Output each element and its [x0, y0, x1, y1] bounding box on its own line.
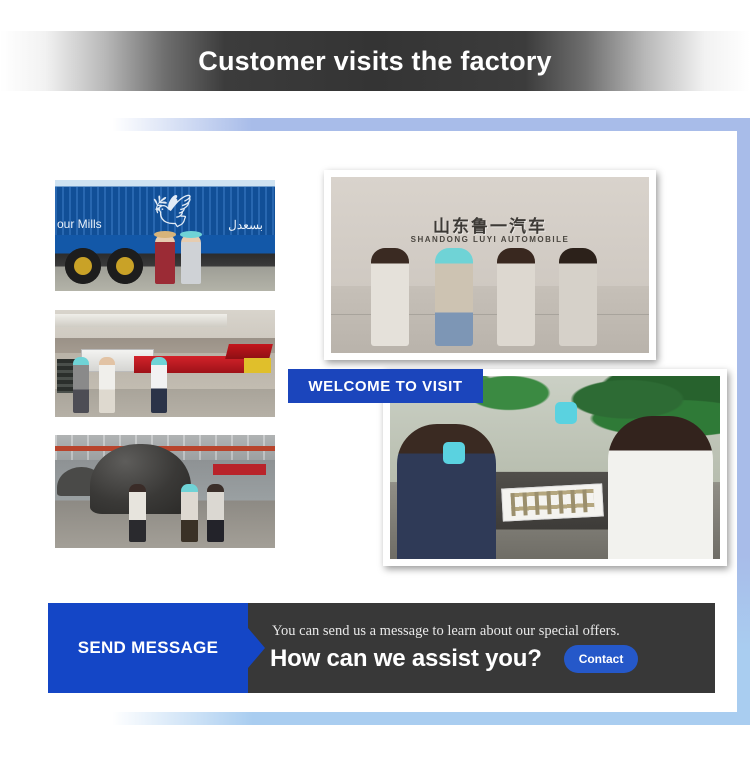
lowbed-scene	[55, 310, 275, 417]
tanker-scene	[55, 435, 275, 548]
photo-showroom-group[interactable]: 山东鲁一汽车 SHANDONG LUYI AUTOMOBILE	[324, 170, 656, 360]
red-trailer-ramp	[225, 344, 273, 359]
chevron-right-icon	[248, 628, 265, 668]
truck-scene: 🕊 our Mills بسعدل	[55, 180, 275, 291]
person-figure	[608, 416, 714, 559]
person-figure	[151, 357, 167, 413]
person-figure	[73, 357, 89, 413]
wall-sign-english: SHANDONG LUYI AUTOMOBILE	[331, 235, 649, 244]
decorative-bottom-bar	[112, 712, 750, 725]
photo-lowbed-trailer-image	[55, 310, 275, 417]
photo-truck-container[interactable]: 🕊 our Mills بسعدل	[55, 180, 275, 291]
photo-tanker-workshop[interactable]	[55, 435, 275, 548]
banner-subtitle: You can send us a message to learn about…	[272, 623, 715, 640]
showroom-scene: 山东鲁一汽车 SHANDONG LUYI AUTOMOBILE	[331, 177, 649, 353]
visitors-group	[151, 226, 211, 284]
truck-wheel	[107, 248, 143, 284]
person-figure	[371, 248, 409, 346]
blurred-face-mask	[555, 402, 577, 424]
send-message-banner: SEND MESSAGE You can send us a message t…	[48, 603, 715, 693]
send-message-button[interactable]: SEND MESSAGE	[48, 603, 248, 693]
person-figure	[207, 484, 224, 542]
contact-button[interactable]: Contact	[564, 645, 639, 673]
photo-lowbed-trailer[interactable]	[55, 310, 275, 417]
banner-heading: How can we assist you?	[270, 645, 542, 673]
wall-sign-chinese: 山东鲁一汽车	[331, 212, 649, 237]
factory-roof	[55, 314, 227, 327]
send-message-label: SEND MESSAGE	[78, 638, 219, 658]
photo-showroom-group-image: 山东鲁一汽车 SHANDONG LUYI AUTOMOBILE	[331, 177, 649, 353]
workshop-sign	[213, 464, 266, 474]
photo-tanker-workshop-image	[55, 435, 275, 548]
person-figure	[155, 234, 175, 284]
person-figure	[435, 248, 473, 346]
dove-icon: 🕊	[152, 196, 192, 230]
decorative-right-bar	[737, 118, 750, 725]
product-catalog	[501, 483, 604, 521]
person-figure	[497, 248, 535, 346]
decorative-top-bar	[112, 118, 750, 131]
person-figure	[181, 484, 198, 542]
blurred-face-mask	[443, 442, 465, 464]
page-title: Customer visits the factory	[198, 46, 552, 77]
welcome-to-visit-tag[interactable]: WELCOME TO VISIT	[288, 369, 483, 403]
person-figure	[559, 248, 597, 346]
truck-text-right: بسعدل	[228, 218, 263, 232]
banner-text-group: You can send us a message to learn about…	[270, 603, 715, 693]
photo-meeting-table-image	[390, 376, 720, 559]
truck-wheel	[65, 248, 101, 284]
page-header-band: Customer visits the factory	[0, 31, 750, 91]
person-figure	[181, 234, 201, 284]
banner-heading-row: How can we assist you? Contact	[270, 645, 715, 673]
person-figure	[99, 357, 115, 413]
welcome-to-visit-label: WELCOME TO VISIT	[308, 378, 462, 395]
truck-text-left: our Mills	[57, 217, 102, 231]
forklift	[244, 358, 270, 373]
meeting-scene	[390, 376, 720, 559]
photo-truck-container-image: 🕊 our Mills بسعدل	[55, 180, 275, 291]
person-figure	[129, 484, 146, 542]
